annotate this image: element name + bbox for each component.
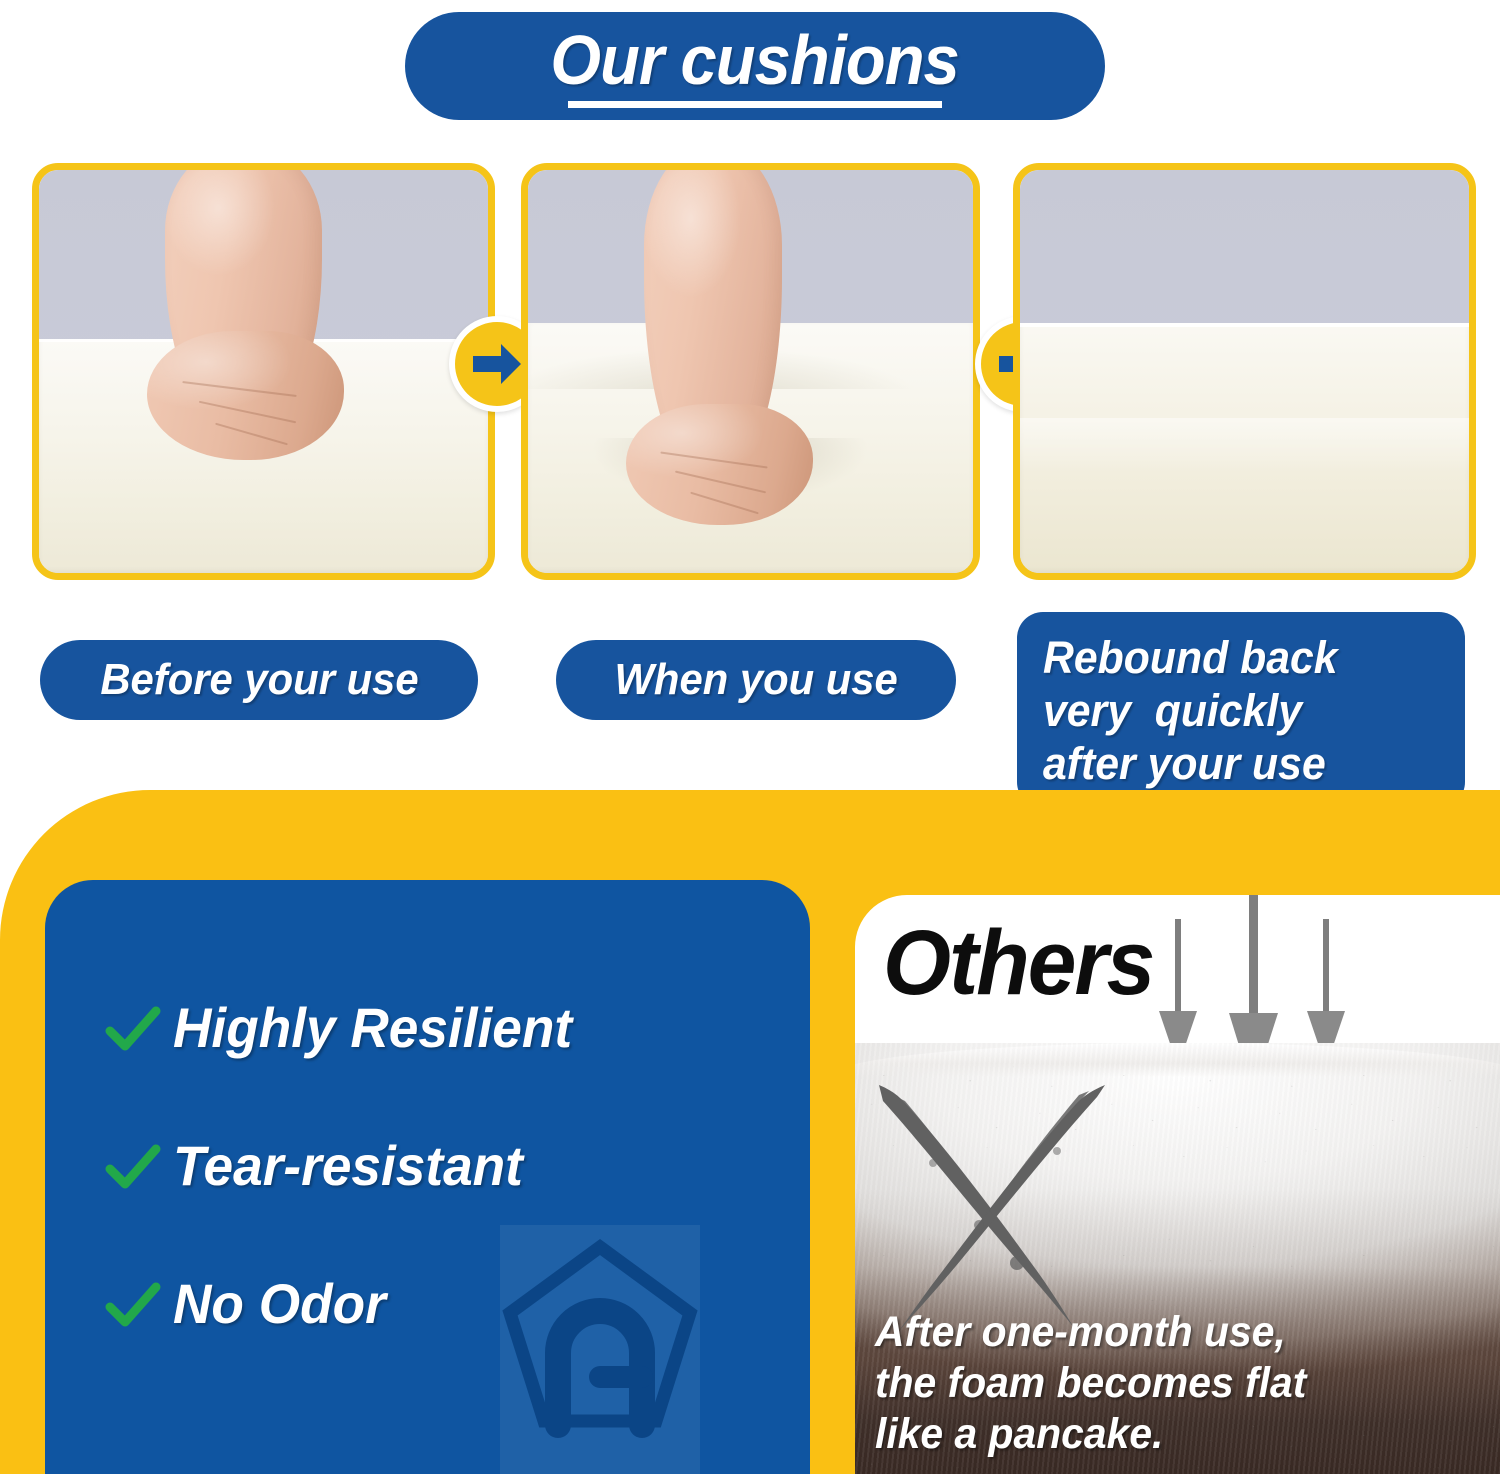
step-caption-2: When you use	[556, 640, 956, 720]
fist-knuckles-shape	[626, 404, 813, 525]
step-caption-3-line-2: very quickly	[1043, 684, 1338, 737]
our-cushion-features-card: Highly Resilient Tear-resistant No Odor	[45, 880, 810, 1474]
feature-item-highly-resilient: Highly Resilient	[105, 972, 593, 1084]
arrow-right-icon	[471, 342, 523, 386]
finger-crease	[660, 452, 768, 469]
step-photo-2	[521, 163, 980, 580]
finger-crease	[199, 401, 296, 423]
check-icon	[105, 1142, 173, 1190]
others-caption: After one-month use, the foam becomes fl…	[875, 1307, 1495, 1460]
finger-crease	[691, 491, 759, 514]
finger-crease	[183, 381, 297, 397]
others-title: Others	[883, 915, 1153, 1011]
foam-sheen	[1020, 418, 1469, 473]
step-caption-2-label: When you use	[614, 655, 897, 705]
photo-fist-pressing-into-foam	[528, 170, 973, 573]
foam-surface-restored	[1020, 323, 1469, 573]
title-underline	[568, 101, 942, 108]
brush-x-mark-icon	[861, 1067, 1161, 1337]
feature-label: Tear-resistant	[173, 1136, 523, 1196]
photo-fist-resting-on-foam	[39, 170, 488, 573]
step-caption-3: Rebound back very quickly after your use	[1017, 612, 1465, 808]
feature-item-tear-resistant: Tear-resistant	[105, 1110, 593, 1222]
check-icon	[105, 1280, 173, 1328]
step-caption-1: Before your use	[40, 640, 478, 720]
step-caption-3-line-1: Rebound back	[1043, 631, 1338, 684]
feature-list: Highly Resilient Tear-resistant No Odor	[105, 972, 593, 1360]
feature-label: Highly Resilient	[173, 998, 572, 1058]
page-title: Our cushions	[551, 25, 959, 95]
feature-item-no-odor: No Odor	[105, 1248, 593, 1360]
fist-knuckles-shape	[147, 331, 345, 460]
feature-label: No Odor	[173, 1274, 386, 1334]
finger-crease	[675, 471, 766, 494]
step-photo-1	[32, 163, 495, 580]
others-caption-line-2: the foam becomes flat	[875, 1358, 1464, 1409]
step-caption-3-line-3: after your use	[1043, 737, 1338, 790]
finger-crease	[215, 423, 288, 446]
others-comparison-card: Others	[855, 895, 1500, 1474]
page-title-pill: Our cushions	[405, 12, 1105, 120]
step-caption-1-label: Before your use	[100, 655, 418, 705]
check-icon	[105, 1004, 173, 1052]
step-photo-3	[1013, 163, 1476, 580]
infographic-root: Our cushions	[0, 0, 1500, 1474]
photo-foam-fully-rebounded-flat	[1020, 170, 1469, 573]
others-caption-line-3: like a pancake.	[875, 1409, 1464, 1460]
others-caption-line-1: After one-month use,	[875, 1307, 1464, 1358]
